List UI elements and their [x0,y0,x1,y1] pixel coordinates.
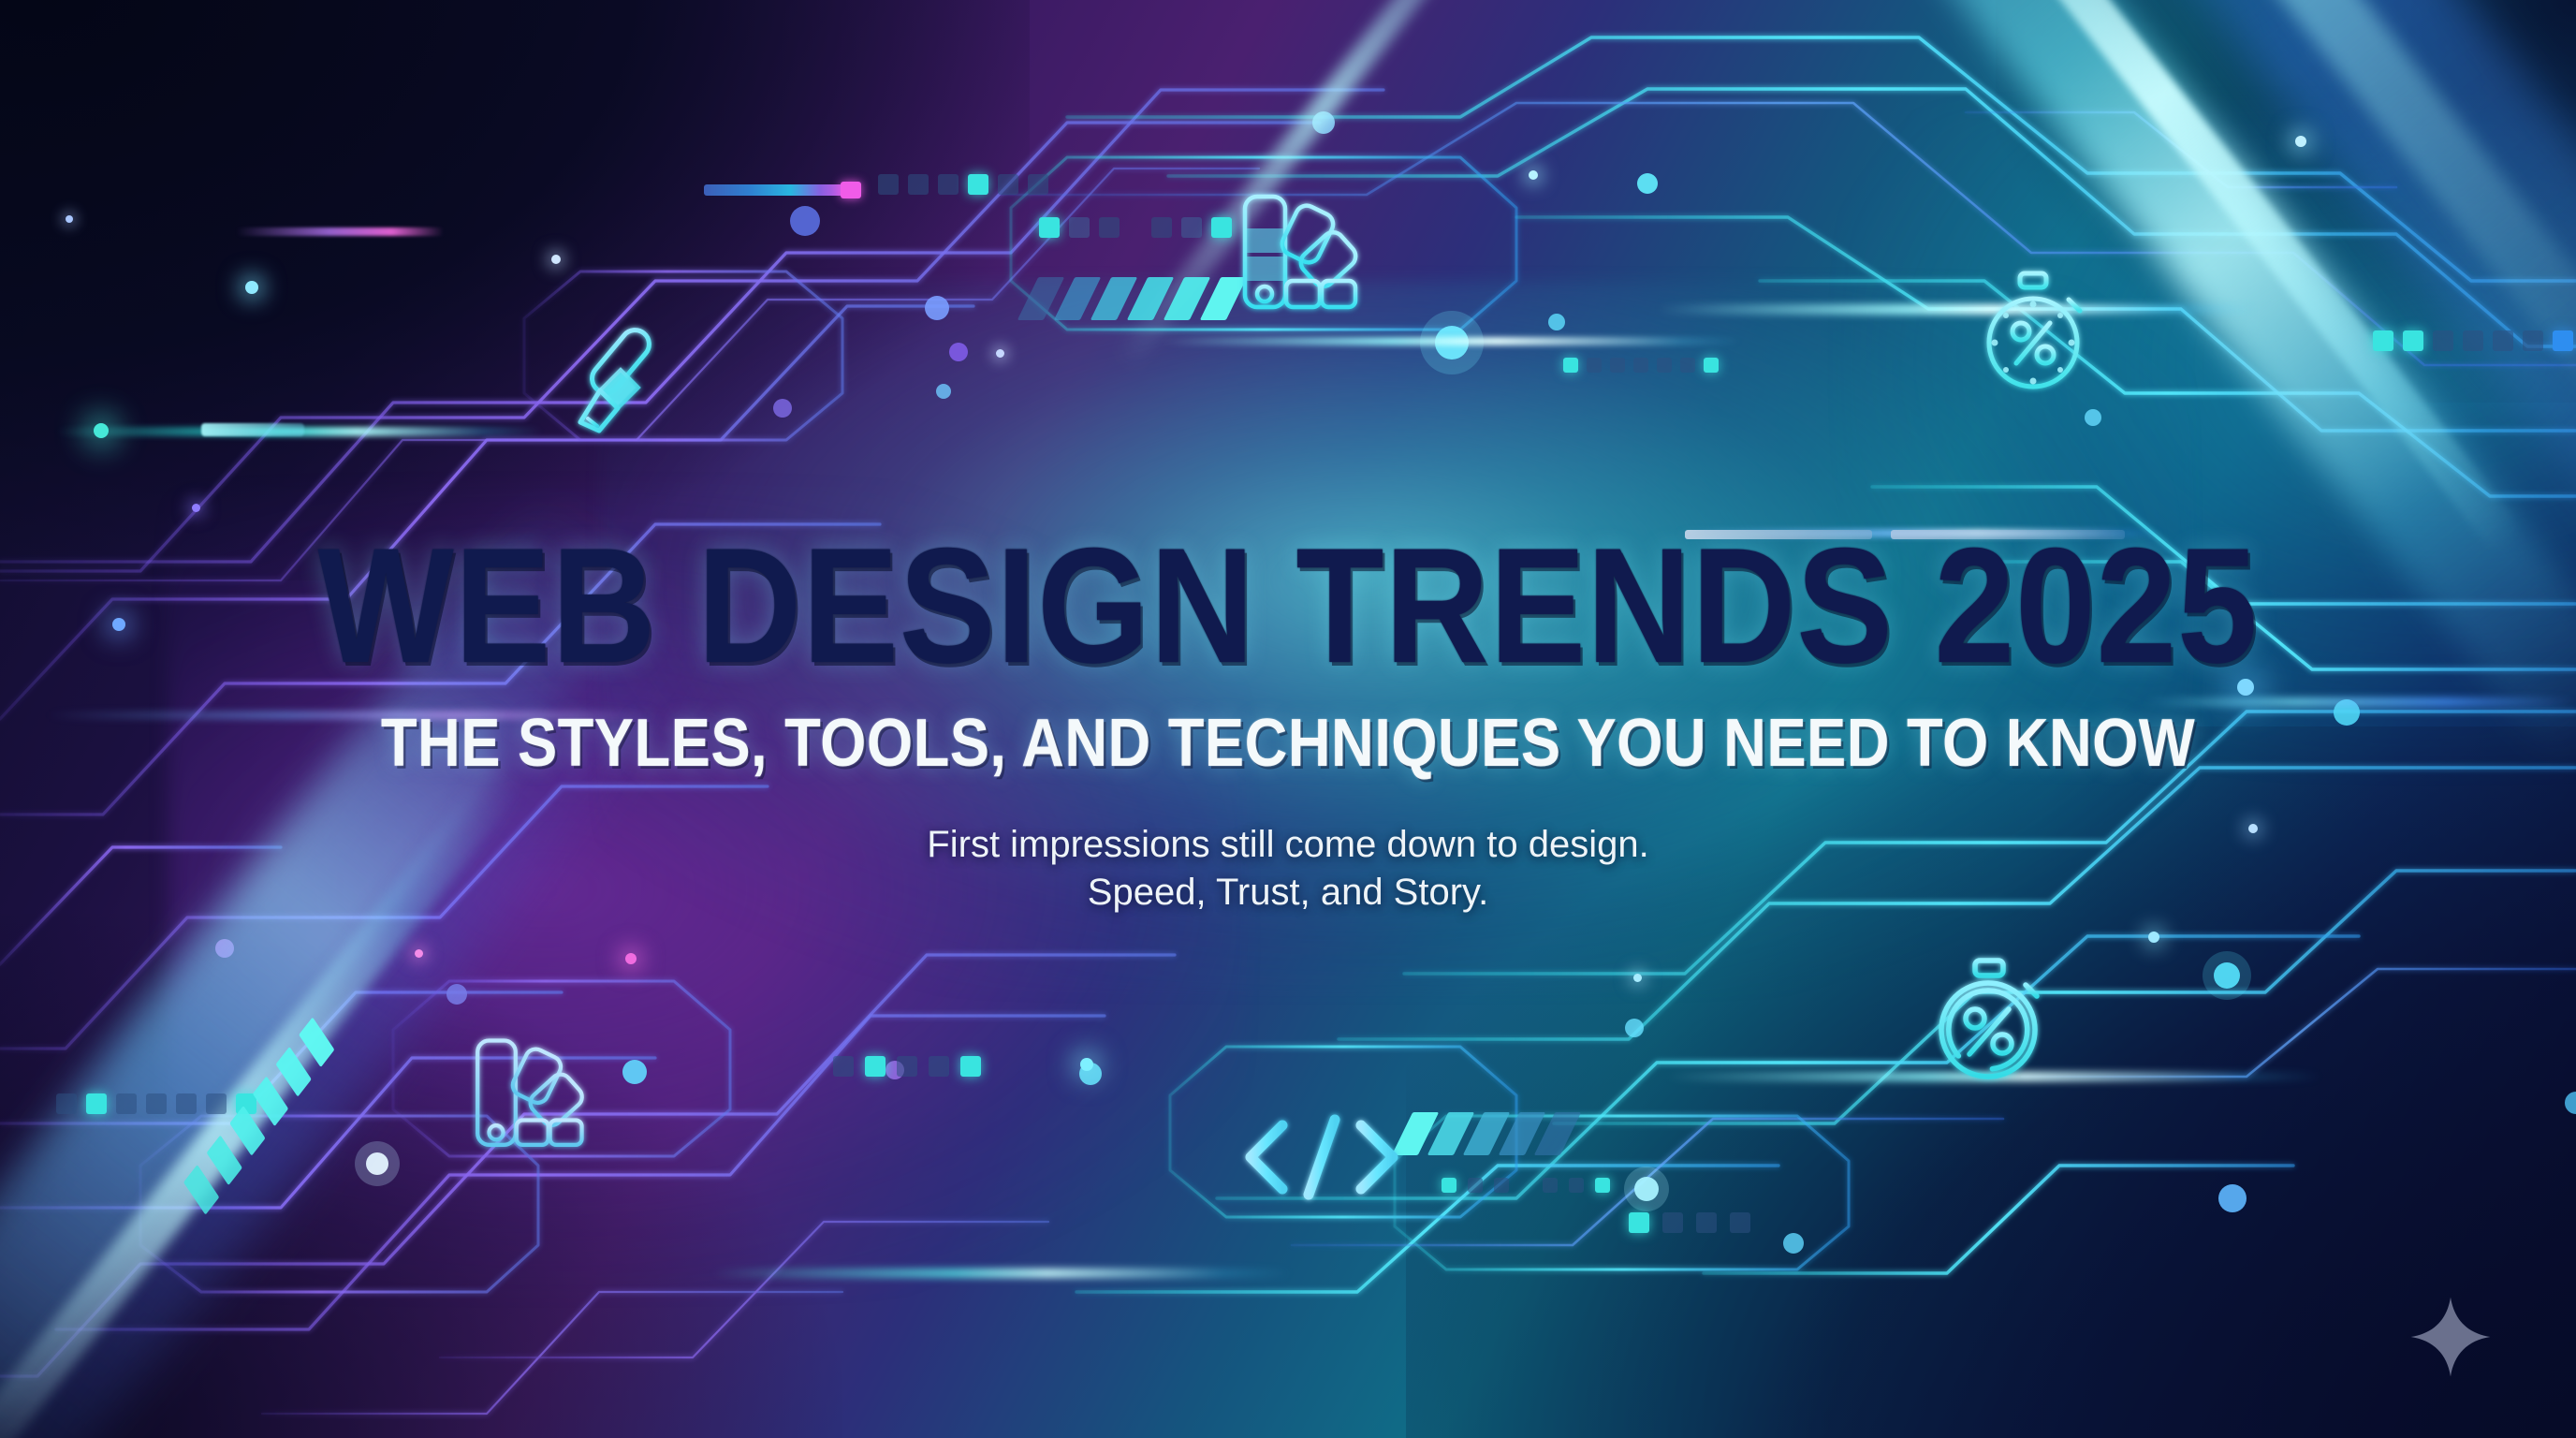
glow-dot [415,949,423,958]
data-block-row-top-center [1039,217,1120,238]
hatch-bar-group-top [1028,277,1237,320]
stopwatch-percent-icon-secondary [1930,955,2050,1086]
streak-white-top-right [1860,0,2525,555]
data-block-row-top-right [2373,330,2576,351]
glow-dot [66,215,73,223]
data-block-row-bottom-right [1629,1212,1750,1233]
stopwatch-percent-icon [1975,270,2095,397]
code-brackets-icon [1237,1110,1406,1204]
glow-dot [94,423,109,438]
glow-dot [996,349,1004,358]
color-palette-icon [1234,189,1363,322]
pen-tool-icon [562,332,665,443]
data-block-row-upper-mid [1563,358,1719,373]
glow-dot [2148,932,2159,943]
data-block-row-top-center-2 [1151,217,1232,238]
page-title: WEB DESIGN TRENDS 2025 [154,524,2422,688]
poster-canvas: WEB DESIGN TRENDS 2025 THE STYLES, TOOLS… [0,0,2576,1438]
page-subtitle: THE STYLES, TOOLS, AND TECHNIQUES YOU NE… [154,709,2422,780]
data-block-row-top-left [878,174,1048,195]
tagline-line-2: Speed, Trust, and Story. [1088,872,1488,913]
poster-text-block: WEB DESIGN TRENDS 2025 THE STYLES, TOOLS… [0,524,2576,917]
glow-dot [1633,974,1642,982]
glow-dot [551,255,561,264]
glow-dot [625,953,637,964]
gradient-progress-bar [704,184,854,196]
data-block-row-bottom-center-left [833,1056,981,1077]
color-palette-icon-secondary [466,1034,590,1159]
data-block-row-bottom-left [56,1093,256,1114]
glow-dot [192,504,200,512]
tagline: First impressions still come down to des… [0,821,2576,917]
magenta-accent-bar [236,227,444,236]
hatch-bar-group-bottom [1402,1112,1571,1155]
progress-bar-cap [841,182,861,198]
tagline-line-1: First impressions still come down to des… [927,824,1648,865]
glow-dot [1080,1058,1093,1071]
glow-dot [1529,170,1538,180]
ai-sparkle-watermark [2408,1294,2494,1380]
data-block-row-bottom-center [1442,1178,1610,1193]
glow-dot [245,281,258,294]
glow-dot [2295,136,2306,147]
